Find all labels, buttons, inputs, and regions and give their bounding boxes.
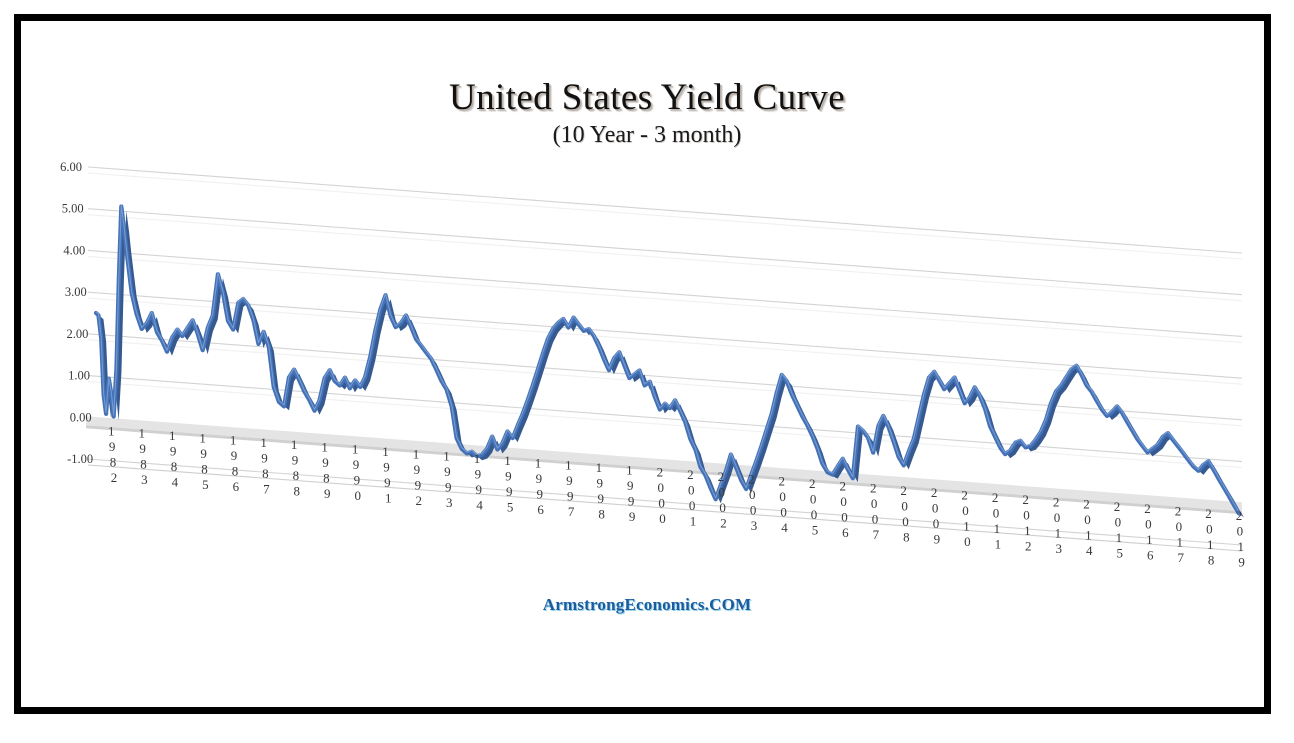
x-axis-tick-digit: 1 bbox=[1207, 537, 1214, 552]
x-axis-tick-digit: 2 bbox=[111, 470, 118, 485]
x-axis-tick-digit: 1 bbox=[963, 518, 970, 533]
y-axis-tick-labels: 6.005.004.003.002.001.000.00-1.00 bbox=[60, 160, 93, 466]
x-axis-tick-digit: 9 bbox=[170, 444, 177, 459]
x-axis-tick-label: 2007 bbox=[870, 481, 880, 543]
x-axis-tick-digit: 0 bbox=[811, 507, 818, 522]
x-axis-tick-digit: 5 bbox=[1116, 545, 1123, 560]
x-axis-tick-label: 1993 bbox=[443, 449, 452, 511]
x-axis-tick-digit: 0 bbox=[932, 501, 939, 516]
x-axis-tick-digit: 0 bbox=[810, 492, 817, 507]
x-axis-tick-digit: 9 bbox=[322, 455, 329, 470]
x-axis-tick-label: 1990 bbox=[352, 442, 361, 504]
x-axis-tick-digit: 9 bbox=[261, 450, 268, 465]
x-axis-tick-digit: 6 bbox=[1147, 548, 1154, 563]
x-axis-tick-digit: 0 bbox=[718, 485, 725, 500]
x-axis-tick-digit: 0 bbox=[1176, 519, 1183, 534]
y-axis-tick-label: 6.00 bbox=[60, 160, 82, 174]
x-axis-tick-digit: 2 bbox=[415, 493, 422, 508]
x-axis-tick-digit: 9 bbox=[324, 486, 331, 501]
x-axis-tick-digit: 1 bbox=[199, 430, 206, 445]
x-axis-tick-label: 1985 bbox=[199, 430, 208, 492]
x-axis-tick-digit: 3 bbox=[751, 518, 758, 533]
x-axis-tick-digit: 7 bbox=[263, 481, 270, 496]
x-axis-tick-digit: 4 bbox=[172, 475, 179, 490]
x-axis-tick-digit: 1 bbox=[260, 435, 267, 450]
y-axis-tick-label: 0.00 bbox=[70, 410, 92, 424]
x-axis-tick-digit: 9 bbox=[1238, 555, 1245, 570]
x-axis-tick-digit: 6 bbox=[233, 479, 240, 494]
x-axis-tick-digit: 1 bbox=[565, 458, 572, 473]
x-axis-tick-digit: 9 bbox=[292, 453, 299, 468]
x-axis-tick-digit: 0 bbox=[355, 488, 362, 503]
x-axis-tick-digit: 1 bbox=[230, 433, 237, 448]
x-axis-tick-label: 2017 bbox=[1175, 503, 1185, 565]
x-axis-tick-digit: 0 bbox=[902, 514, 909, 529]
x-axis-tick-digit: 8 bbox=[294, 484, 301, 499]
x-axis-tick-digit: 9 bbox=[354, 473, 361, 488]
x-axis-tick-digit: 1 bbox=[385, 491, 392, 506]
x-axis-tick-digit: 0 bbox=[689, 498, 696, 513]
x-axis-tick-label: 2014 bbox=[1083, 497, 1093, 559]
x-axis-tick-label: 2012 bbox=[1022, 492, 1031, 553]
x-axis-tick-digit: 0 bbox=[1145, 517, 1152, 532]
x-axis-tick-digit: 0 bbox=[749, 487, 756, 502]
x-axis-tick-digit: 1 bbox=[1146, 532, 1153, 547]
gridline bbox=[88, 167, 1242, 253]
x-axis-tick-label: 1992 bbox=[413, 446, 422, 508]
y-axis-tick-label: -1.00 bbox=[67, 452, 93, 466]
x-axis-tick-digit: 8 bbox=[232, 464, 239, 479]
x-axis-tick-digit: 2 bbox=[961, 487, 968, 502]
x-axis-tick-label: 1983 bbox=[138, 426, 147, 488]
x-axis-tick-label: 1996 bbox=[535, 455, 545, 517]
x-axis-tick-label: 2013 bbox=[1053, 494, 1062, 555]
x-axis-tick-label: 1989 bbox=[321, 439, 330, 501]
gridline bbox=[88, 459, 1242, 545]
x-axis-tick-digit: 9 bbox=[628, 493, 635, 508]
x-axis-tick-label: 1982 bbox=[108, 423, 117, 485]
x-axis-tick-digit: 7 bbox=[568, 504, 575, 519]
x-axis-tick-digit: 0 bbox=[779, 489, 786, 504]
x-axis-tick-digit: 2 bbox=[1175, 503, 1182, 518]
x-axis-tick-digit: 5 bbox=[507, 500, 514, 515]
gridline bbox=[88, 209, 1242, 295]
x-axis-tick-digit: 8 bbox=[201, 461, 208, 476]
x-axis-tick-digit: 1 bbox=[413, 446, 420, 461]
x-axis-tick-digit: 2 bbox=[748, 471, 755, 486]
x-axis-tick-digit: 0 bbox=[780, 505, 787, 520]
x-axis-tick-digit: 1 bbox=[108, 423, 115, 438]
x-axis-tick-digit: 9 bbox=[353, 457, 360, 472]
x-axis-tick-digit: 2 bbox=[657, 465, 664, 480]
x-axis-tick-digit: 1 bbox=[443, 449, 450, 464]
x-axis-tick-label: 2010 bbox=[961, 487, 970, 548]
x-axis-tick-digit: 2 bbox=[870, 481, 877, 496]
x-axis-tick-digit: 9 bbox=[383, 460, 390, 475]
y-axis-tick-label: 4.00 bbox=[63, 243, 85, 257]
x-axis-tick-digit: 9 bbox=[139, 441, 146, 456]
x-axis-tick-digit: 9 bbox=[505, 469, 512, 484]
x-axis-tick-digit: 0 bbox=[1206, 521, 1213, 536]
x-axis-tick-digit: 9 bbox=[567, 489, 574, 504]
x-axis-tick-digit: 9 bbox=[597, 476, 604, 491]
x-axis-tick-digit: 2 bbox=[779, 474, 786, 489]
x-axis-tick-digit: 9 bbox=[475, 466, 482, 481]
x-axis-tick-digit: 0 bbox=[1237, 524, 1244, 539]
x-axis-tick-digit: 8 bbox=[903, 529, 910, 544]
y-axis-tick-label: 3.00 bbox=[65, 285, 87, 299]
x-axis-tick-digit: 4 bbox=[476, 497, 483, 512]
x-axis-tick-digit: 9 bbox=[384, 475, 391, 490]
x-axis-tick-label: 1986 bbox=[230, 433, 240, 495]
y-axis-tick-label: 1.00 bbox=[68, 369, 90, 383]
x-axis-tick-digit: 2 bbox=[1236, 508, 1243, 523]
x-axis-tick-digit: 1 bbox=[596, 460, 603, 475]
x-axis-tick-label: 1995 bbox=[504, 453, 513, 514]
x-axis-tick-label: 2006 bbox=[839, 478, 849, 540]
x-axis-tick-label: 2008 bbox=[900, 483, 909, 544]
gridline bbox=[88, 250, 1242, 336]
x-axis-tick-digit: 8 bbox=[262, 466, 269, 481]
x-axis-tick-digit: 1 bbox=[995, 536, 1002, 551]
x-axis-tick-digit: 0 bbox=[841, 509, 848, 524]
x-axis-tick-label: 2000 bbox=[657, 465, 666, 527]
x-axis-tick-digit: 1 bbox=[535, 455, 542, 470]
x-axis-tick-label: 2004 bbox=[779, 474, 789, 536]
y-axis-tick-label: 2.00 bbox=[67, 327, 89, 341]
x-axis-tick-digit: 2 bbox=[992, 490, 999, 505]
x-axis-tick-digit: 2 bbox=[687, 467, 694, 482]
yield-curve-plot: 6.005.004.003.002.001.000.00-1.00 198219… bbox=[0, 0, 1294, 743]
x-axis-tick-digit: 8 bbox=[140, 457, 147, 472]
x-axis-tick-label: 2001 bbox=[687, 467, 696, 529]
x-axis-tick-digit: 5 bbox=[812, 523, 819, 538]
x-axis-tick-label: 2018 bbox=[1205, 506, 1214, 568]
x-axis-tick-digit: 1 bbox=[291, 437, 298, 452]
x-axis-tick-digit: 8 bbox=[1208, 552, 1215, 567]
x-axis-tick-digit: 1 bbox=[474, 451, 481, 466]
y-axis-tick-label: 5.00 bbox=[62, 202, 84, 216]
x-axis-tick-label: 1999 bbox=[626, 462, 635, 524]
x-axis-tick-digit: 9 bbox=[627, 478, 634, 493]
x-axis-tick-digit: 0 bbox=[719, 500, 726, 515]
x-axis-tick-digit: 2 bbox=[1205, 506, 1212, 521]
x-axis-tick-digit: 0 bbox=[659, 511, 666, 526]
x-axis-tick-digit: 8 bbox=[323, 470, 330, 485]
x-axis-tick-digit: 1 bbox=[382, 444, 389, 459]
source-credit: ArmstrongEconomics.COM bbox=[0, 595, 1294, 615]
x-axis-tick-digit: 1 bbox=[690, 513, 697, 528]
x-axis-tick-digit: 0 bbox=[688, 482, 695, 497]
x-axis-tick-digit: 3 bbox=[1056, 541, 1063, 556]
x-axis-tick-digit: 4 bbox=[1086, 543, 1093, 558]
x-axis-tick-digit: 7 bbox=[873, 527, 880, 542]
x-axis-tick-digit: 0 bbox=[1023, 508, 1030, 523]
gridline-depth bbox=[88, 465, 1242, 551]
x-axis-tick-digit: 5 bbox=[202, 477, 209, 492]
gridline-depth bbox=[88, 256, 1242, 342]
x-axis-tick-digit: 1 bbox=[504, 453, 511, 468]
x-axis-tick-digit: 9 bbox=[415, 477, 422, 492]
x-axis-tick-digit: 2 bbox=[931, 485, 938, 500]
x-axis-tick-digit: 9 bbox=[629, 509, 636, 524]
gridline-depth bbox=[88, 173, 1242, 259]
x-axis-tick-digit: 8 bbox=[110, 454, 117, 469]
x-axis-tick-digit: 2 bbox=[1144, 501, 1151, 516]
x-axis-tick-digit: 0 bbox=[872, 512, 879, 527]
x-axis-tick-digit: 2 bbox=[1025, 539, 1032, 554]
x-axis-tick-label: 2016 bbox=[1144, 501, 1154, 563]
x-axis-tick-label: 1988 bbox=[291, 437, 300, 499]
x-axis-tick-digit: 9 bbox=[231, 448, 238, 463]
x-axis-tick-digit: 8 bbox=[598, 507, 605, 522]
x-axis-tick-digit: 8 bbox=[293, 468, 300, 483]
x-axis-tick-digit: 2 bbox=[720, 516, 727, 531]
x-axis-tick-digit: 1 bbox=[138, 426, 145, 441]
x-axis-tick-digit: 2 bbox=[900, 483, 907, 498]
x-axis-tick-label: 1984 bbox=[169, 428, 179, 490]
chart-container: United States Yield Curve (10 Year - 3 m… bbox=[0, 0, 1294, 743]
x-axis-tick-digit: 2 bbox=[839, 478, 846, 493]
x-axis-tick-digit: 1 bbox=[352, 442, 359, 457]
x-axis-tick-digit: 0 bbox=[964, 534, 971, 549]
x-axis-tick-digit: 9 bbox=[536, 486, 543, 501]
x-axis-tick-digit: 9 bbox=[476, 482, 483, 497]
x-axis-tick-digit: 1 bbox=[994, 521, 1001, 536]
x-axis-tick-digit: 2 bbox=[1053, 494, 1060, 509]
x-axis-tick-digit: 9 bbox=[109, 439, 116, 454]
x-axis-tick-digit: 2 bbox=[718, 469, 725, 484]
x-axis-tick-digit: 0 bbox=[658, 496, 665, 511]
x-axis-tick-label: 1987 bbox=[260, 435, 270, 497]
x-axis-tick-digit: 1 bbox=[1055, 525, 1062, 540]
x-axis-tick-digit: 0 bbox=[840, 494, 847, 509]
x-axis-tick-digit: 9 bbox=[934, 532, 941, 547]
x-axis-tick-digit: 1 bbox=[321, 439, 328, 454]
x-axis-tick-digit: 2 bbox=[809, 476, 816, 491]
x-axis-tick-label: 2019 bbox=[1236, 508, 1245, 570]
x-axis-tick-label: 1998 bbox=[596, 460, 605, 522]
x-axis-tick-digit: 9 bbox=[414, 462, 421, 477]
x-axis-tick-digit: 9 bbox=[536, 471, 543, 486]
x-axis-tick-digit: 0 bbox=[933, 516, 940, 531]
x-axis-tick-digit: 1 bbox=[1116, 530, 1123, 545]
x-axis-tick-digit: 1 bbox=[1177, 534, 1184, 549]
x-axis-tick-digit: 0 bbox=[871, 496, 878, 511]
x-axis-tick-digit: 9 bbox=[444, 464, 451, 479]
chart-page: United States Yield Curve (10 Year - 3 m… bbox=[0, 0, 1294, 743]
x-axis-tick-digit: 9 bbox=[200, 446, 207, 461]
x-axis-tick-digit: 1 bbox=[1085, 528, 1092, 543]
x-axis-tick-digit: 0 bbox=[1084, 512, 1091, 527]
x-axis-tick-digit: 6 bbox=[842, 525, 849, 540]
x-axis-tick-label: 2003 bbox=[748, 471, 757, 533]
x-axis-tick-digit: 9 bbox=[506, 484, 513, 499]
x-axis-tick-digit: 0 bbox=[1054, 510, 1061, 525]
x-axis-tick-digit: 4 bbox=[781, 520, 788, 535]
x-axis-tick-digit: 0 bbox=[993, 505, 1000, 520]
x-axis-tick-digit: 7 bbox=[1177, 550, 1184, 565]
x-axis-tick-digit: 3 bbox=[446, 495, 453, 510]
x-axis-tick-digit: 8 bbox=[171, 459, 178, 474]
x-axis-tick-digit: 0 bbox=[1115, 514, 1122, 529]
x-axis-tick-digit: 1 bbox=[1024, 523, 1031, 538]
x-axis-tick-label: 2011 bbox=[992, 490, 1001, 551]
x-axis-tick-digit: 0 bbox=[658, 480, 665, 495]
x-axis-tick-label: 1997 bbox=[565, 458, 575, 520]
x-axis-tick-digit: 0 bbox=[901, 498, 908, 513]
x-axis-tick-digit: 1 bbox=[1238, 539, 1245, 554]
x-axis-tick-digit: 0 bbox=[962, 503, 969, 518]
x-axis-tick-digit: 1 bbox=[169, 428, 176, 443]
x-axis-tick-digit: 6 bbox=[537, 502, 544, 517]
x-axis-tick-label: 1991 bbox=[382, 444, 391, 506]
x-axis-tick-digit: 9 bbox=[566, 473, 573, 488]
x-axis-tick-digit: 2 bbox=[1083, 497, 1090, 512]
x-axis-tick-digit: 2 bbox=[1114, 499, 1121, 514]
x-axis-tick-digit: 2 bbox=[1022, 492, 1029, 507]
x-axis-tick-label: 2009 bbox=[931, 485, 940, 546]
gridline-depth bbox=[88, 215, 1242, 301]
x-axis-tick-digit: 1 bbox=[626, 462, 633, 477]
x-axis-tick-label: 2015 bbox=[1114, 499, 1123, 561]
x-axis-tick-digit: 9 bbox=[597, 491, 604, 506]
x-axis-tick-digit: 3 bbox=[141, 472, 148, 487]
x-axis-tick-digit: 0 bbox=[750, 502, 757, 517]
x-axis-tick-digit: 9 bbox=[445, 480, 452, 495]
x-axis-tick-label: 2005 bbox=[809, 476, 818, 538]
